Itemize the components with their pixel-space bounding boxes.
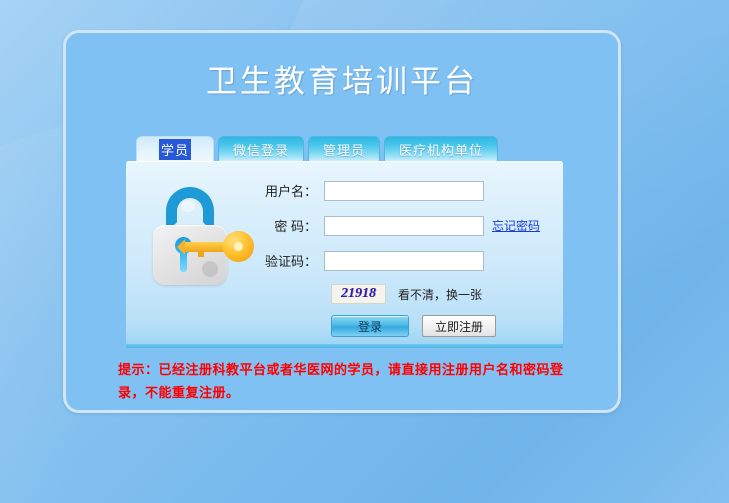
panel-bottom-strip bbox=[126, 344, 563, 348]
padlock-with-key-icon bbox=[151, 187, 243, 279]
tab-administrator[interactable]: 管理员 bbox=[308, 136, 380, 161]
captcha-image[interactable]: 21918 bbox=[331, 284, 386, 304]
captcha-row: 验证码： bbox=[254, 245, 554, 276]
padlock-body bbox=[153, 225, 227, 285]
tab-student[interactable]: 学员 bbox=[136, 136, 214, 161]
password-label: 密 码： bbox=[254, 216, 324, 235]
captcha-image-row: 21918 看不清，换一张 bbox=[254, 280, 554, 308]
password-row: 密 码： 忘记密码 bbox=[254, 210, 554, 241]
captcha-input[interactable] bbox=[324, 251, 484, 271]
login-form: 用户名： 密 码： 忘记密码 验证码： 21918 看不清，换一张 登录 立即注… bbox=[254, 175, 554, 337]
password-input[interactable] bbox=[324, 216, 484, 236]
tab-medical-institution[interactable]: 医疗机构单位 bbox=[384, 136, 498, 161]
tab-medical-institution-label: 医疗机构单位 bbox=[399, 140, 483, 159]
tab-wechat-login[interactable]: 微信登录 bbox=[218, 136, 304, 161]
username-label: 用户名： bbox=[254, 181, 324, 200]
page-title: 卫生教育培训平台 bbox=[66, 33, 618, 101]
login-panel: 用户名： 密 码： 忘记密码 验证码： 21918 看不清，换一张 登录 立即注… bbox=[126, 161, 563, 344]
key-head bbox=[223, 231, 254, 262]
captcha-label: 验证码： bbox=[254, 251, 324, 270]
tab-bar: 学员 微信登录 管理员 医疗机构单位 bbox=[136, 136, 498, 161]
form-actions: 登录 立即注册 bbox=[254, 315, 554, 337]
username-row: 用户名： bbox=[254, 175, 554, 206]
login-card: 卫生教育培训平台 学员 微信登录 管理员 医疗机构单位 用户名： bbox=[63, 30, 621, 413]
captcha-refresh-link[interactable]: 看不清，换一张 bbox=[398, 286, 482, 303]
login-button[interactable]: 登录 bbox=[331, 315, 409, 337]
tab-wechat-login-label: 微信登录 bbox=[233, 140, 289, 159]
forgot-password-link[interactable]: 忘记密码 bbox=[492, 217, 540, 234]
register-button[interactable]: 立即注册 bbox=[422, 315, 496, 337]
registration-notice: 提示：已经注册科教平台或者华医网的学员，请直接用注册用户名和密码登录，不能重复注… bbox=[118, 358, 570, 404]
tab-student-label: 学员 bbox=[159, 139, 191, 160]
tab-administrator-label: 管理员 bbox=[323, 140, 365, 159]
username-input[interactable] bbox=[324, 181, 484, 201]
